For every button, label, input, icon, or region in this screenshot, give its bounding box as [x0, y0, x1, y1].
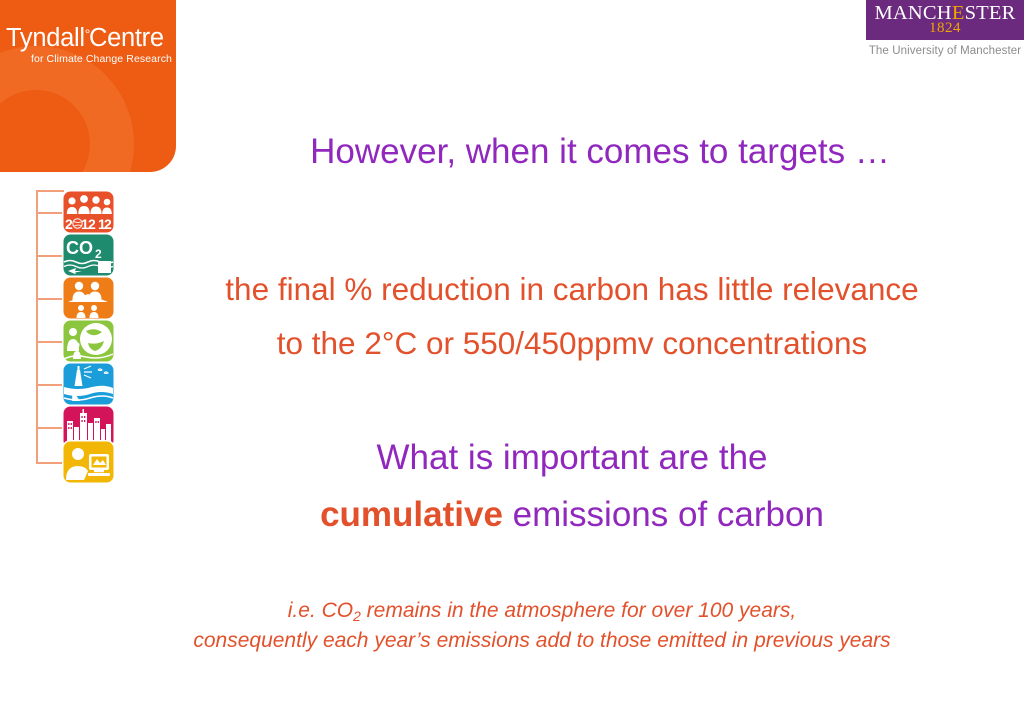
purple-statement-line-2: cumulative emissions of carbon	[120, 497, 1024, 532]
coastal-lighthouse-icon[interactable]	[62, 362, 115, 406]
purple-statement-block: What is important are the cumulative emi…	[120, 440, 1024, 532]
cumulative-emphasis: cumulative	[320, 495, 503, 534]
tyndall-name-part1: Tyndall	[6, 24, 85, 52]
page-title: However, when it comes to targets …	[176, 132, 1024, 171]
orange-statement-block: the final % reduction in carbon has litt…	[120, 274, 1024, 359]
manchester-tagline: The University of Manchester	[866, 45, 1024, 57]
purple-statement-line-2-rest: emissions of carbon	[503, 495, 824, 534]
tyndall-wordmark: Tyndall°Centre	[6, 26, 176, 52]
rail-connector	[36, 212, 64, 214]
co2-subscript: 2	[353, 608, 361, 624]
rail-connector	[36, 384, 64, 386]
rail-vertical-line	[36, 190, 38, 464]
rail-connector	[36, 462, 64, 464]
footnote-line-1-pre: i.e. CO	[288, 599, 353, 622]
rail-connector	[36, 427, 64, 429]
rail-connector	[36, 190, 64, 192]
manchester-founding-year: 1824	[866, 21, 1024, 36]
person-computer-icon[interactable]	[62, 440, 115, 484]
svg-text:CO: CO	[66, 238, 93, 258]
rail-connector	[36, 298, 64, 300]
footnote-line-1: i.e. CO2 remains in the atmosphere for o…	[60, 596, 1024, 626]
people-2012-icon[interactable]: 2 1 2 1 2	[62, 190, 115, 234]
footnote-line-1-post: remains in the atmosphere for over 100 y…	[361, 599, 796, 622]
family-shelter-icon[interactable]	[62, 276, 115, 320]
manchester-university-logo: MANCHESTER 1824 The University of Manche…	[866, 0, 1024, 57]
svg-text:2: 2	[65, 216, 73, 232]
svg-text:2: 2	[95, 247, 102, 261]
svg-text:2: 2	[88, 216, 96, 232]
globe-person-icon[interactable]	[62, 319, 115, 363]
orange-statement-line-1: the final % reduction in carbon has litt…	[120, 274, 1024, 306]
orange-statement-line-2: to the 2°C or 550/450ppmv concentrations	[120, 328, 1024, 360]
icon-rail: 2 1 2 1 2 CO 2	[36, 190, 132, 476]
tyndall-centre-logo: Tyndall°Centre for Climate Change Resear…	[0, 0, 176, 172]
purple-statement-line-1: What is important are the	[120, 440, 1024, 475]
rail-connector	[36, 255, 64, 257]
manchester-logo-box: MANCHESTER 1824	[866, 0, 1024, 40]
rail-connector	[36, 341, 64, 343]
footnote-block: i.e. CO2 remains in the atmosphere for o…	[60, 596, 1024, 657]
co2-emissions-icon[interactable]: CO 2	[62, 233, 115, 277]
tyndall-name-part2: Centre	[89, 24, 164, 52]
footnote-line-2: consequently each year’s emissions add t…	[60, 626, 1024, 656]
svg-text:2: 2	[104, 216, 112, 232]
tyndall-tagline: for Climate Change Research	[6, 54, 176, 65]
